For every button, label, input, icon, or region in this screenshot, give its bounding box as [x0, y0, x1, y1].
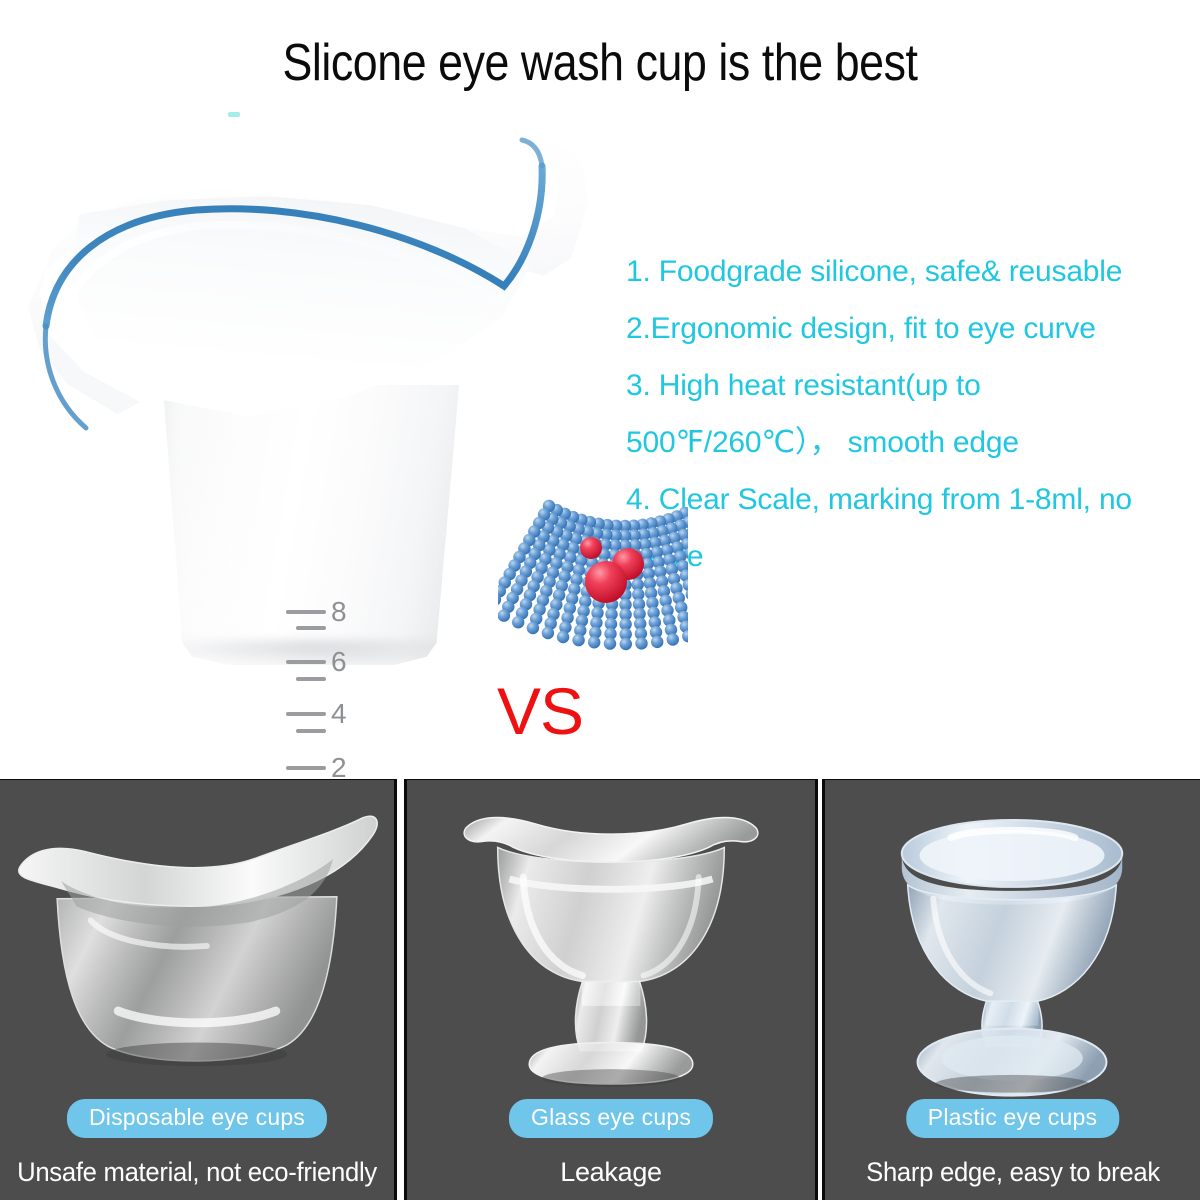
vs-label: VS	[497, 678, 583, 744]
comparison-panel-glass: Glass eye cups Leakage	[404, 779, 818, 1200]
scale-mark	[296, 729, 326, 733]
badge-disposable: Disposable eye cups	[67, 1099, 327, 1138]
molecule-bead	[635, 637, 647, 649]
tick-major	[286, 610, 326, 614]
scale-mark: 2	[286, 754, 347, 782]
red-droplet-large	[585, 561, 627, 603]
comparison-panel-disposable: Disposable eye cups Unsafe material, not…	[0, 779, 397, 1200]
page-title: Slicone eye wash cup is the best	[84, 36, 1116, 91]
feature-item-2: 2.Ergonomic design, fit to eye curve	[626, 300, 1186, 357]
cyan-speck-artifact	[228, 112, 240, 117]
tick-label: 6	[331, 648, 347, 676]
caption-disposable: Unsafe material, not eco-friendly	[17, 1157, 377, 1188]
molecule-bead	[588, 636, 600, 648]
tick-major	[286, 660, 326, 664]
scale-mark	[296, 677, 326, 681]
plastic-eye-cup-image	[825, 780, 1200, 1110]
scale-mark: 4	[286, 700, 347, 728]
molecule-bead	[667, 633, 679, 645]
cup-blue-rim-edge-icon	[28, 136, 588, 436]
molecule-bead	[604, 637, 616, 649]
scale-mark: 6	[286, 648, 347, 676]
tick-minor	[296, 677, 326, 681]
tick-major	[286, 712, 326, 716]
feature-item-4: 4. Clear Scale, marking from 1-8ml, no w…	[626, 471, 1186, 585]
caption-glass: Leakage	[560, 1157, 662, 1188]
scale-mark	[296, 626, 326, 630]
molecule-bead	[557, 631, 569, 643]
silicone-molecule-structure-icon	[498, 498, 688, 653]
feature-item-3: 3. High heat resistant(up to 500℉/260℃），…	[626, 357, 1186, 471]
feature-item-1: 1. Foodgrade silicone, safe& reusable	[626, 243, 1186, 300]
badge-plastic: Plastic eye cups	[906, 1099, 1119, 1138]
molecule-bead	[512, 616, 524, 628]
caption-plastic: Sharp edge, easy to break	[866, 1157, 1160, 1188]
infographic-page: Slicone eye wash cup is the best	[0, 0, 1200, 1200]
tick-minor	[296, 626, 326, 630]
red-droplet-small	[580, 537, 602, 559]
molecule-bead	[527, 622, 539, 634]
molecule-bead	[651, 636, 663, 648]
badge-glass: Glass eye cups	[509, 1099, 713, 1138]
feature-list: 1. Foodgrade silicone, safe& reusable 2.…	[626, 243, 1186, 585]
tick-label: 8	[331, 598, 347, 626]
scale-mark: 8	[286, 598, 347, 626]
molecule-bead	[620, 638, 632, 650]
molecule-bead	[572, 634, 584, 646]
tick-major	[286, 766, 326, 770]
tick-minor	[296, 729, 326, 733]
glass-eye-cup-image	[407, 780, 815, 1110]
molecule-bead	[542, 627, 554, 639]
molecule-bead	[498, 609, 510, 621]
disposable-eye-cup-image	[0, 780, 394, 1110]
tick-label: 2	[331, 754, 347, 782]
comparison-panel-plastic: Plastic eye cups Sharp edge, easy to bre…	[822, 779, 1200, 1200]
comparison-panels: Disposable eye cups Unsafe material, not…	[0, 779, 1200, 1200]
tick-label: 4	[331, 700, 347, 728]
